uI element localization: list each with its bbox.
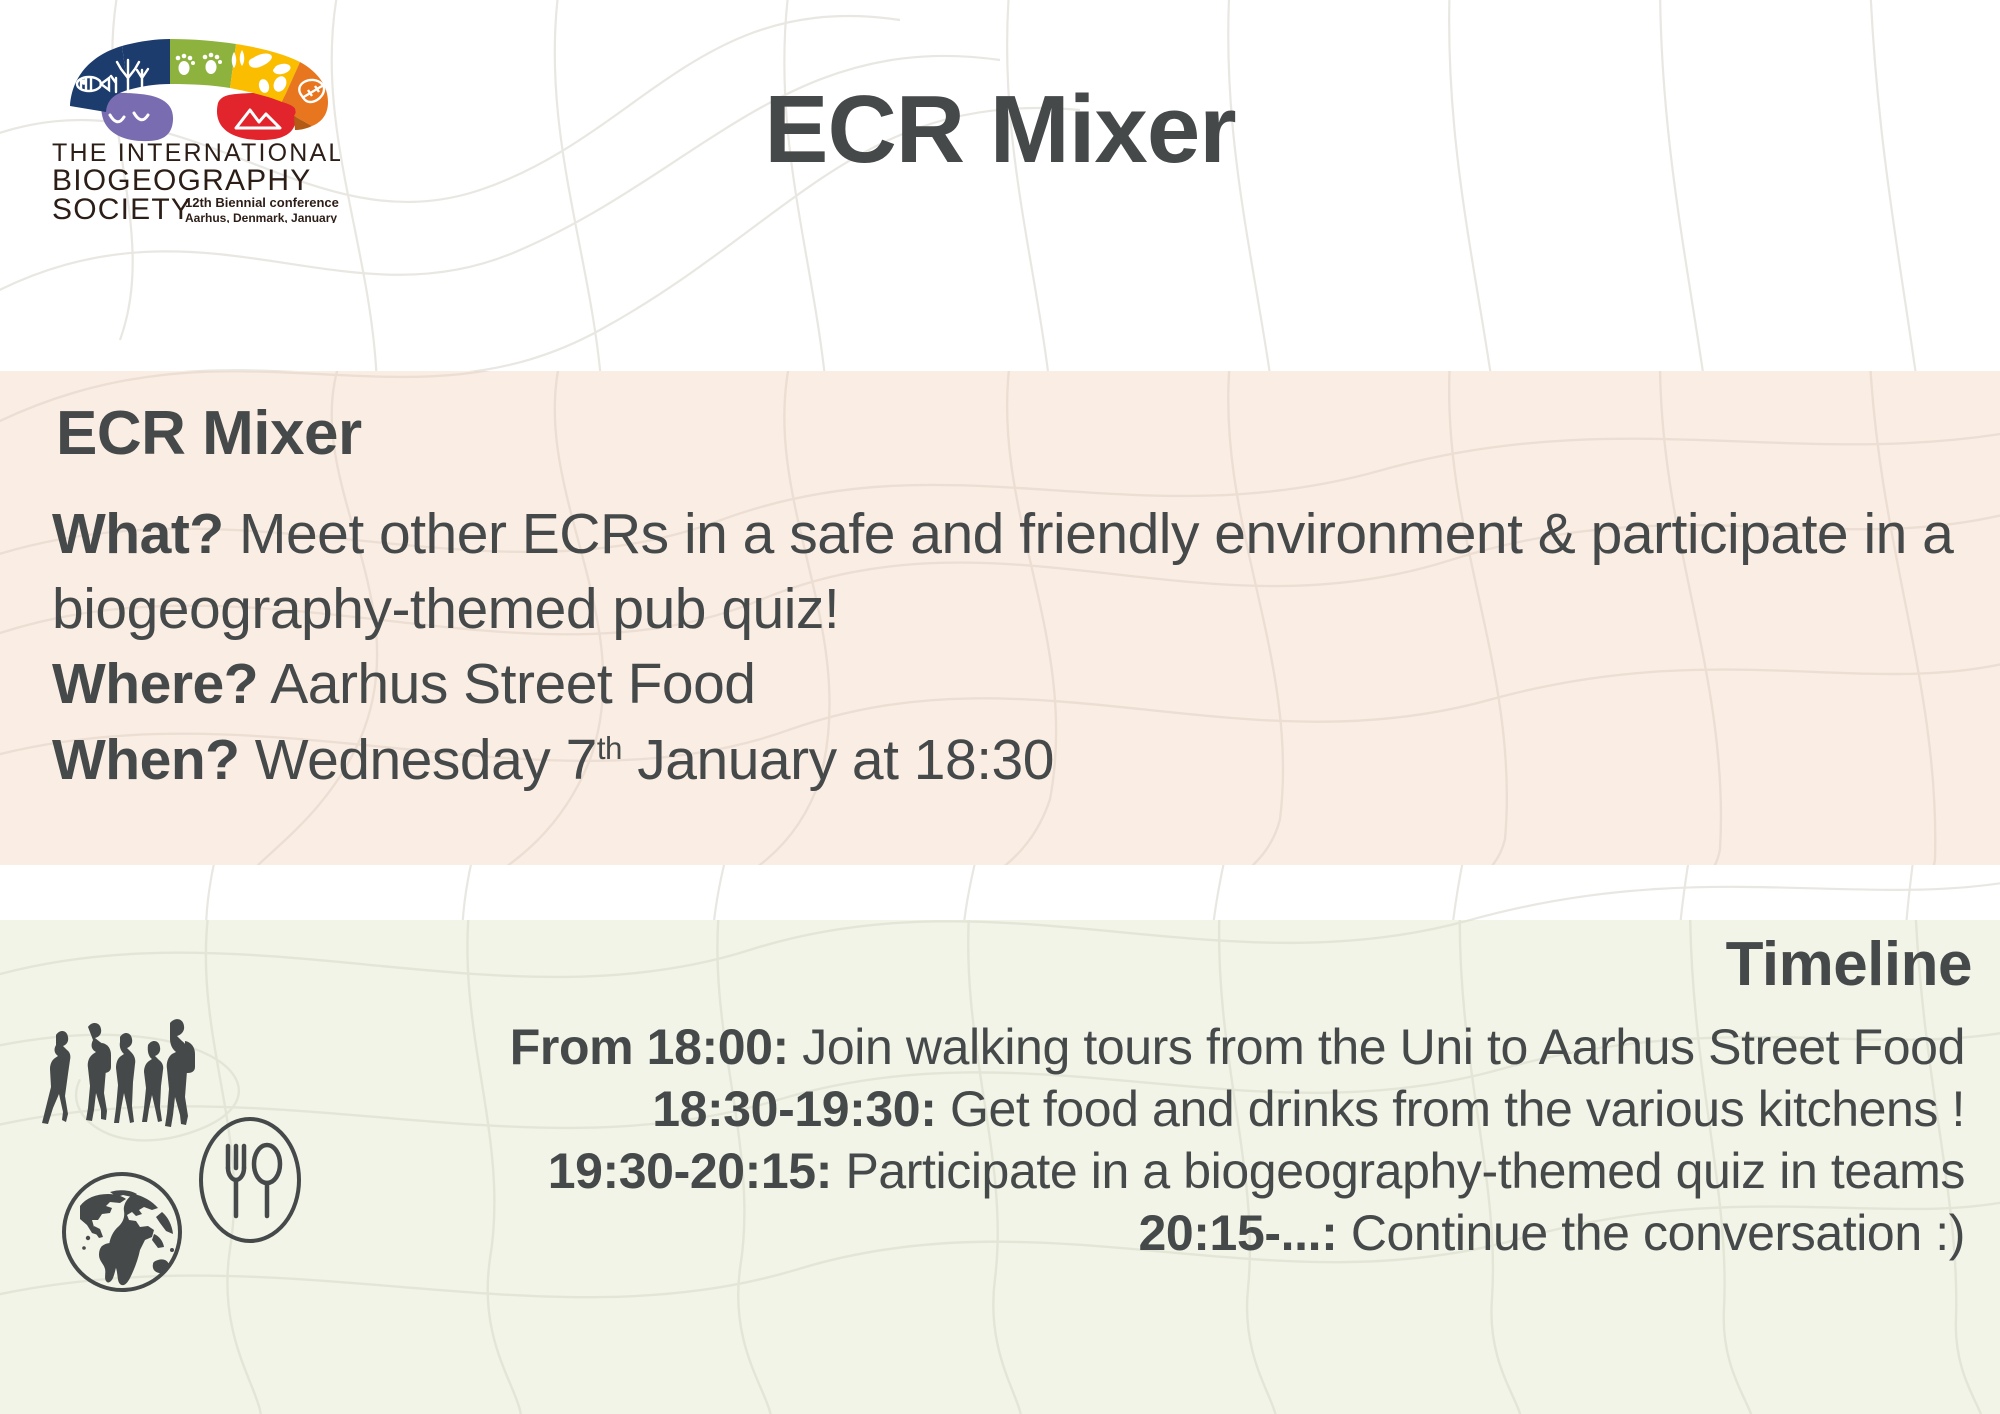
detail-what-label: What? — [52, 502, 224, 566]
event-details: What? Meet other ECRs in a safe and frie… — [52, 497, 1957, 798]
timeline-text: Join walking tours from the Uni to Aarhu… — [789, 1019, 1965, 1075]
detail-what: What? Meet other ECRs in a safe and frie… — [52, 497, 1957, 647]
detail-when-text-after: January at 18:30 — [622, 728, 1054, 792]
poster-slide: ECR Mixer — [0, 0, 2000, 1414]
walking-people-icon — [38, 1015, 198, 1130]
svg-text:SOCIETY: SOCIETY — [52, 193, 192, 223]
logo-conference-line1: 12th Biennial conference — [185, 195, 339, 210]
section-title: ECR Mixer — [56, 403, 362, 465]
timeline-time: 18:30-19:30: — [652, 1081, 936, 1137]
fork-spoon-icon — [198, 1116, 303, 1244]
detail-when-ordinal: th — [597, 731, 622, 766]
ibs-logo: THE INTERNATIONAL BIOGEOGRAPHY SOCIETY 1… — [50, 28, 340, 223]
detail-where-text: Aarhus Street Food — [258, 652, 755, 716]
detail-when-label: When? — [52, 728, 239, 792]
timeline-section: Timeline — [0, 920, 2000, 1414]
detail-when-text-before: Wednesday 7 — [239, 728, 596, 792]
logo-wordmark: THE INTERNATIONAL BIOGEOGRAPHY SOCIETY 1… — [52, 139, 340, 223]
details-section: ECR Mixer What? Meet other ECRs in a saf… — [0, 371, 2000, 865]
ibs-logo-svg: THE INTERNATIONAL BIOGEOGRAPHY SOCIETY 1… — [50, 28, 340, 223]
globe-icon — [58, 1168, 186, 1296]
detail-what-text: Meet other ECRs in a safe and friendly e… — [52, 502, 1953, 641]
timeline-title: Timeline — [1726, 934, 1972, 996]
logo-conference-line2: Aarhus, Denmark, January 2026 — [185, 211, 340, 223]
detail-when: When? Wednesday 7th January at 18:30 — [52, 723, 1957, 798]
timeline-time: From 18:00: — [510, 1019, 789, 1075]
timeline-time: 20:15-...: — [1138, 1205, 1337, 1261]
timeline-text: Get food and drinks from the various kit… — [936, 1081, 1965, 1137]
detail-where-label: Where? — [52, 652, 258, 716]
timeline-time: 19:30-20:15: — [548, 1143, 832, 1199]
timeline-row: From 18:00: Join walking tours from the … — [0, 1016, 1965, 1078]
timeline-text: Participate in a biogeography-themed qui… — [832, 1143, 1965, 1199]
timeline-text: Continue the conversation :) — [1337, 1205, 1965, 1261]
detail-where: Where? Aarhus Street Food — [52, 647, 1957, 722]
svg-text:THE INTERNATIONAL: THE INTERNATIONAL — [52, 139, 340, 167]
logo-purple-swatch — [101, 93, 173, 141]
